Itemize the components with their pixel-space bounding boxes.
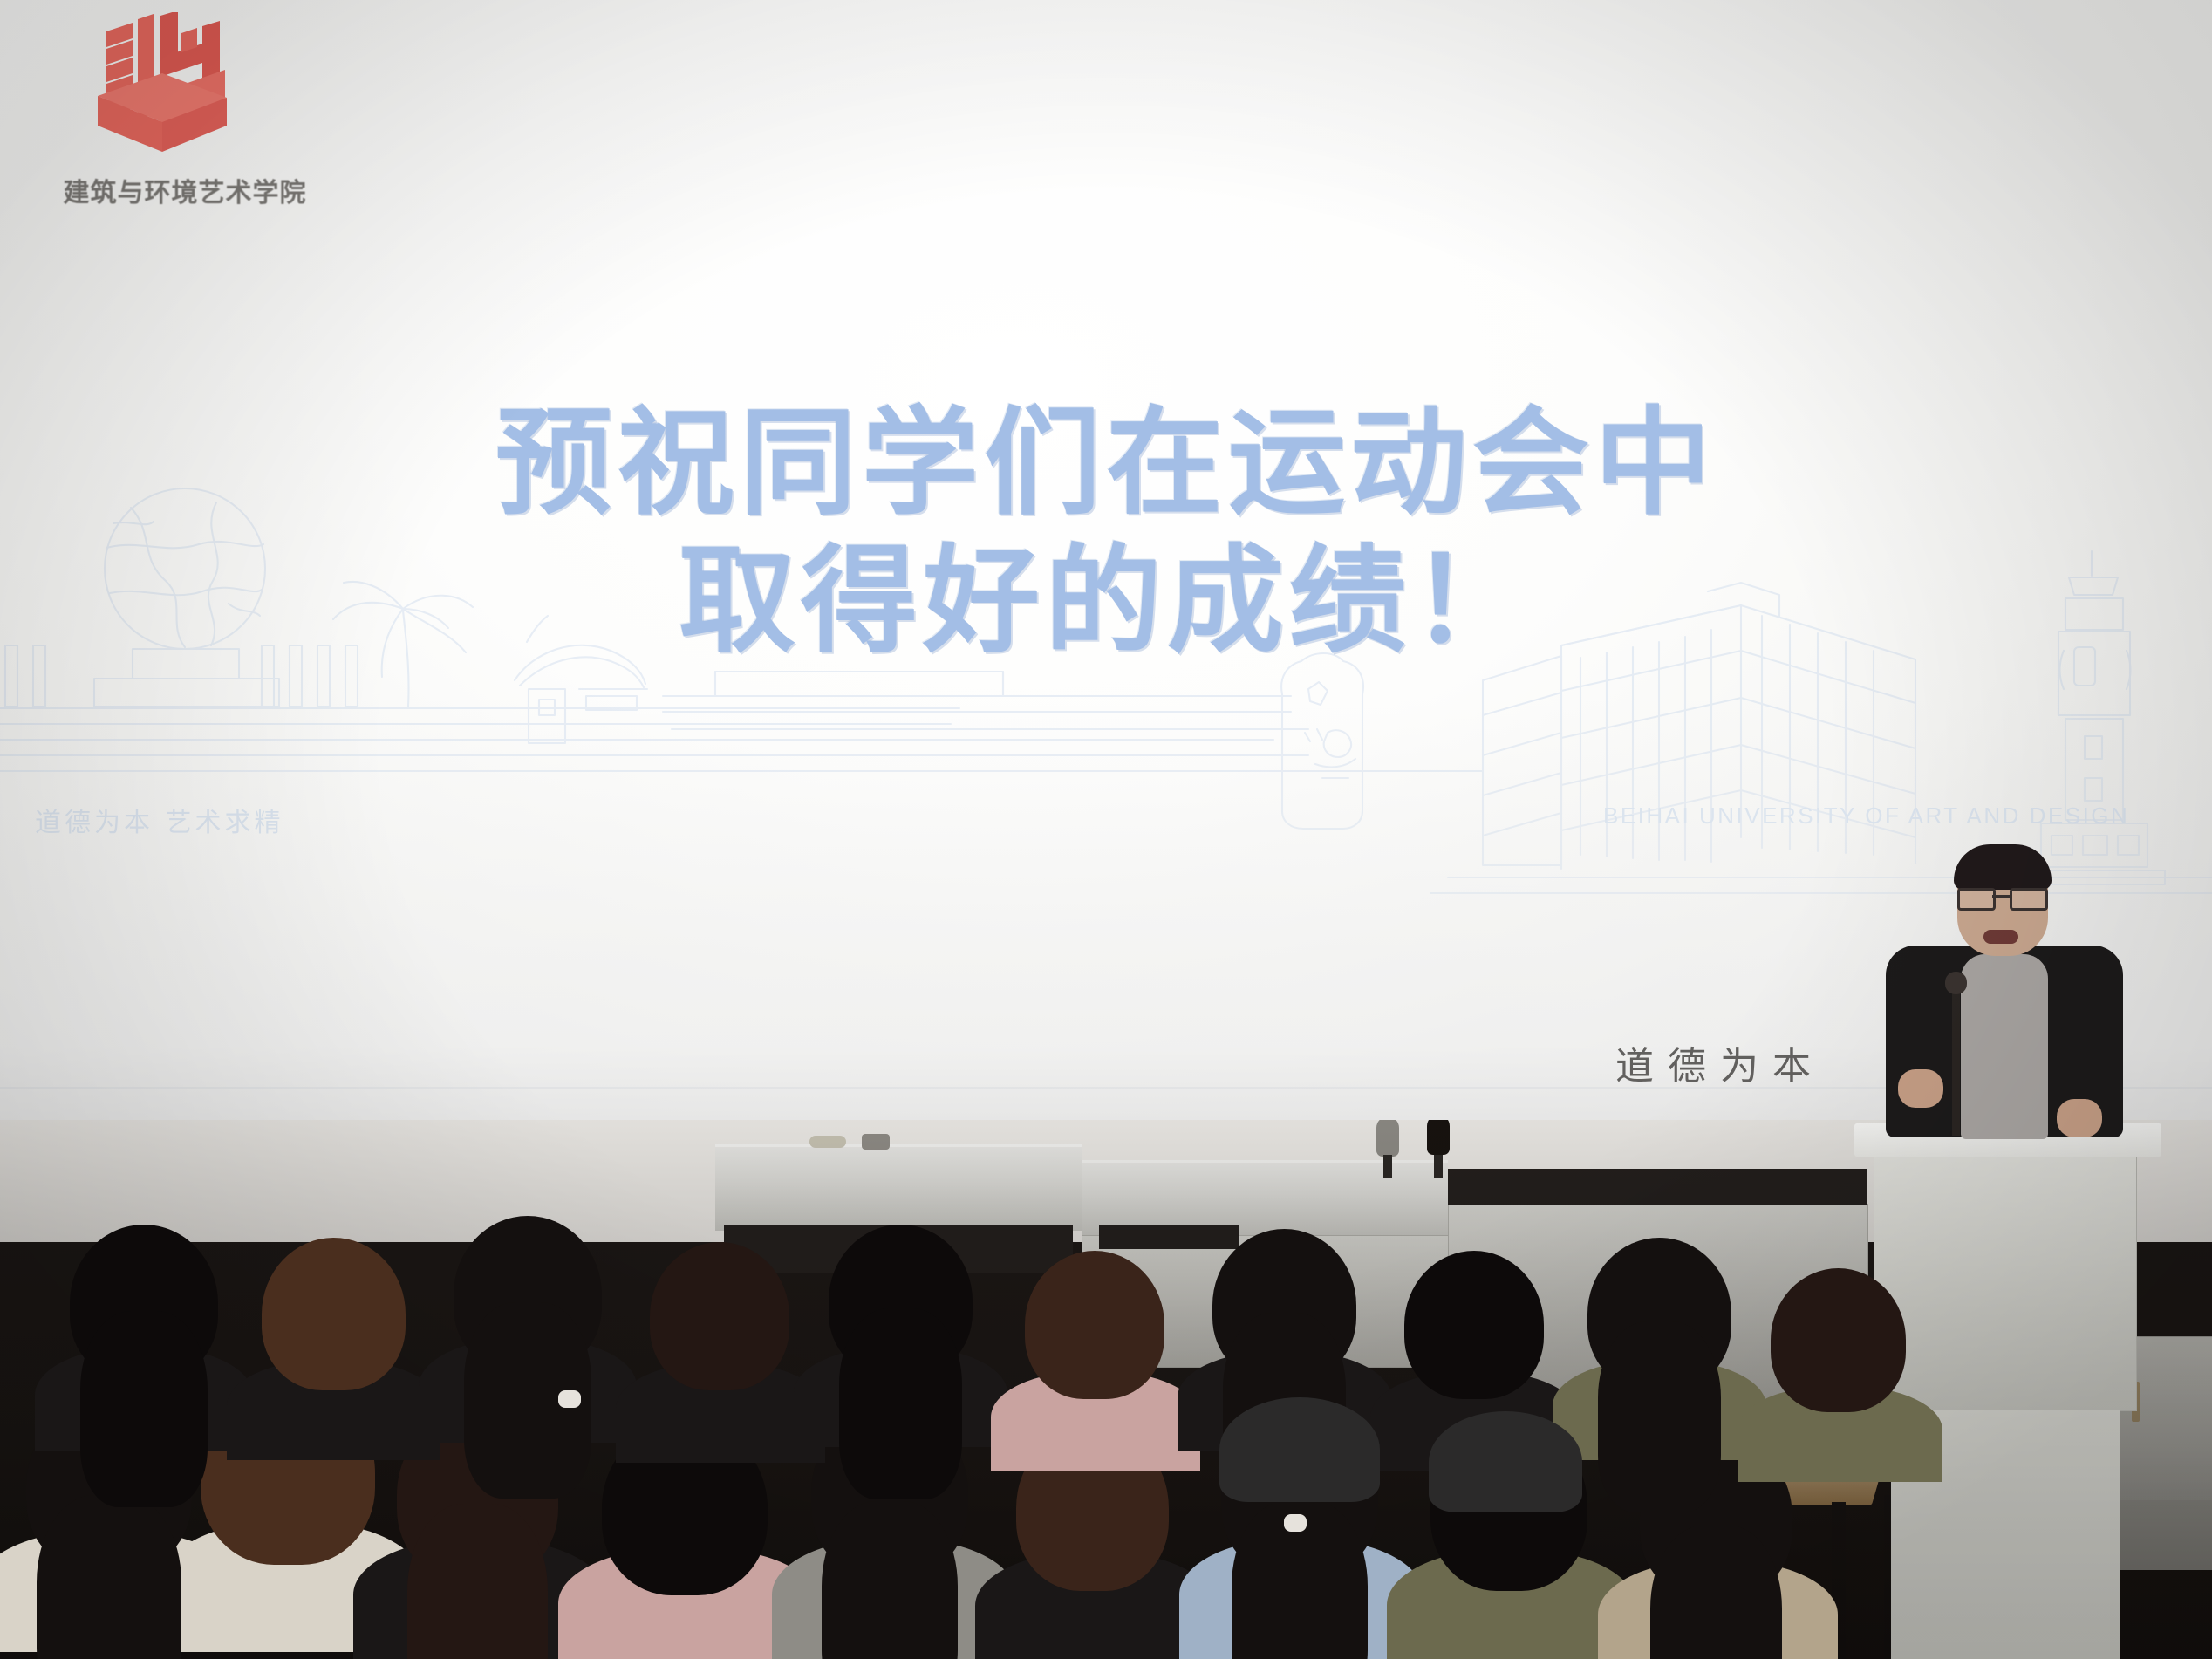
audience-head: [1025, 1251, 1164, 1399]
wall-calligraphy: 道德为本: [1615, 1034, 1825, 1090]
hair-scrunchie: [558, 1390, 581, 1408]
slide-university-en: BEIHAI UNIVERSITY OF ART AND DESIGN: [1603, 802, 2129, 829]
isometric-cube-h-logo-icon: [70, 12, 262, 171]
audience-long-hair: [1650, 1526, 1782, 1659]
lecture-podium: [1854, 1123, 2161, 1659]
podium-front-panel: [1874, 1157, 2137, 1411]
audience-long-hair: [1598, 1321, 1721, 1512]
microphone-1-head: [1376, 1120, 1399, 1157]
hair-scrunchie: [1284, 1514, 1307, 1532]
audience-cap: [1219, 1397, 1380, 1502]
audience-long-hair: [822, 1501, 958, 1659]
college-logo: 建筑与环境艺术学院: [45, 9, 324, 227]
presenter-left-hand: [1898, 1069, 1943, 1108]
audience-long-hair: [80, 1311, 208, 1507]
photo-stage: 道德为本 艺术求精 BEIHAI UNIVERSITY OF ART AND D…: [0, 0, 2212, 1659]
audience-long-hair: [407, 1504, 548, 1659]
presenter-hair: [1954, 844, 2052, 890]
audience-head: [1404, 1251, 1544, 1399]
slide-motto-cn: 道德为本 艺术求精: [35, 801, 284, 839]
audience-head: [262, 1238, 406, 1390]
presenter-shirt: [1961, 954, 2048, 1139]
presenter-right-hand: [2057, 1099, 2102, 1137]
counter-object-paper: [809, 1136, 846, 1148]
stage-counter-left: [715, 1144, 1082, 1231]
presenter-mouth: [1983, 930, 2018, 944]
eyeglass-bridge: [1992, 895, 2010, 898]
podium-microphone-stem: [1952, 979, 1960, 1136]
podium-microphone-head: [1945, 972, 1967, 994]
eyeglass-left-lens: [1957, 888, 1996, 911]
audience-head: [650, 1242, 789, 1390]
microphone-2-head: [1427, 1120, 1450, 1155]
audience-long-hair: [37, 1495, 181, 1659]
eyeglass-right-lens: [2010, 888, 2048, 911]
audience-cap: [1429, 1411, 1582, 1512]
audience-head: [1771, 1268, 1906, 1412]
audience-long-hair: [839, 1308, 962, 1499]
counter-object-device: [862, 1134, 890, 1150]
presenter-figure: [1877, 848, 2130, 1136]
college-name-label: 建筑与环境艺术学院: [45, 171, 324, 209]
presenter-eyeglasses: [1954, 888, 2052, 905]
microphone-1-stem: [1383, 1155, 1392, 1178]
stage-console-slot: [1099, 1225, 1239, 1249]
microphone-2-stem: [1434, 1155, 1443, 1178]
stage-right-shadow: [1448, 1169, 1867, 1205]
